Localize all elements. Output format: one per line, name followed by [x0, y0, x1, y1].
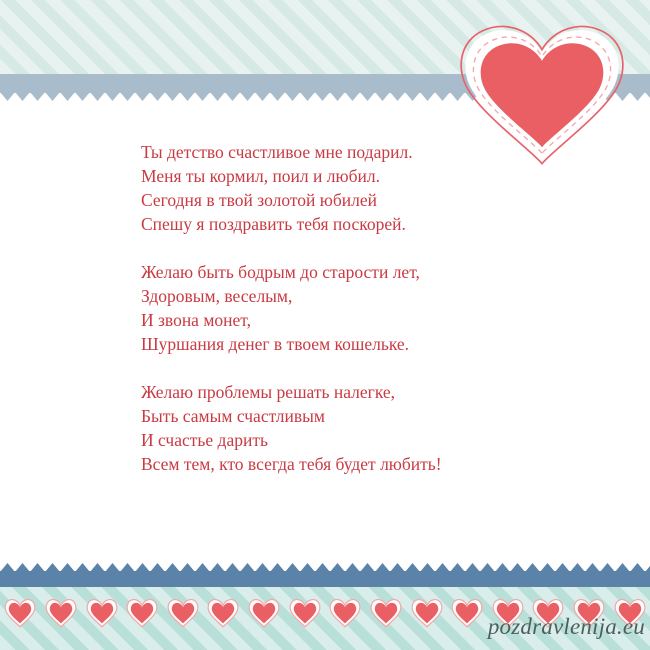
poem-line: Всем тем, кто всегда тебя будет любить! [141, 452, 611, 476]
poem-line: Здоровым, веселым, [141, 284, 611, 308]
mini-heart-icon [247, 597, 281, 629]
poem-stanza: Желаю проблемы решать налегке,Быть самым… [141, 380, 611, 476]
mini-heart-icon [166, 597, 200, 629]
mini-heart-icon [369, 597, 403, 629]
poem-line: Быть самым счастливым [141, 404, 611, 428]
mini-heart-icon [44, 597, 78, 629]
greeting-card: Ты детство счастливое мне подарил.Меня т… [0, 0, 650, 650]
poem-line: Желаю проблемы решать налегке, [141, 380, 611, 404]
poem-stanza: Желаю быть бодрым до старости лет,Здоров… [141, 260, 611, 356]
mini-heart-icon [206, 597, 240, 629]
mini-heart-icon [410, 597, 444, 629]
watermark: pozdravlenija.eu [455, 614, 645, 640]
mini-heart-icon [288, 597, 322, 629]
poem-stanza: Ты детство счастливое мне подарил.Меня т… [141, 140, 611, 236]
mini-heart-icon [328, 597, 362, 629]
poem-line: И счастье дарить [141, 428, 611, 452]
poem-line: Желаю быть бодрым до старости лет, [141, 260, 611, 284]
poem-line: Шуршания денег в твоем кошельке. [141, 332, 611, 356]
poem-line: Сегодня в твой золотой юбилей [141, 188, 611, 212]
poem-text: Ты детство счастливое мне подарил.Меня т… [141, 140, 611, 476]
poem-line: Спешу я поздравить тебя поскорей. [141, 212, 611, 236]
poem-line: Меня ты кормил, поил и любил. [141, 164, 611, 188]
poem-line: Ты детство счастливое мне подарил. [141, 140, 611, 164]
mini-heart-icon [125, 597, 159, 629]
mini-heart-icon [85, 597, 119, 629]
mini-heart-icon [3, 597, 37, 629]
poem-line: И звона монет, [141, 308, 611, 332]
bottom-blue-bar [0, 571, 650, 587]
